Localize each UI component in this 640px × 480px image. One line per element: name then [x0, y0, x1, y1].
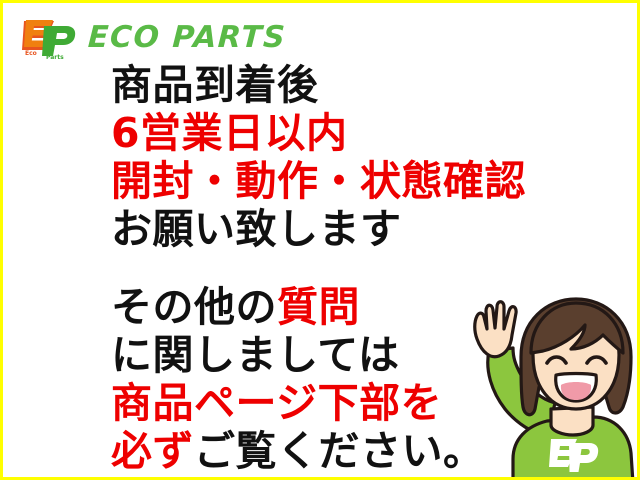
notice-line-5-black: その他の: [111, 283, 277, 331]
brand-wordmark: ECO PARTS: [87, 23, 287, 53]
notice-line-8-red: 必ず: [111, 427, 194, 475]
waving-woman-illustration: [443, 291, 640, 480]
notice-line-4: お願い致します: [111, 205, 581, 253]
message-spacer: [111, 253, 581, 283]
eco-parts-notice-banner: Eco Parts ECO PARTS 商品到着後 6営業日以内 開封・動作・状…: [0, 0, 640, 480]
eco-parts-logo-icon: Eco Parts: [20, 15, 80, 61]
notice-block-one: 商品到着後 6営業日以内 開封・動作・状態確認 お願い致します: [111, 61, 581, 253]
notice-line-1: 商品到着後: [111, 61, 581, 109]
notice-line-3: 開封・動作・状態確認: [111, 157, 581, 205]
brand-header: Eco Parts ECO PARTS: [20, 15, 286, 61]
notice-line-5-red: 質問: [277, 283, 360, 331]
notice-line-2: 6営業日以内: [111, 109, 581, 157]
notice-line-8-black: ご覧ください。: [194, 427, 485, 475]
svg-text:Parts: Parts: [46, 54, 64, 61]
svg-text:Eco: Eco: [25, 50, 37, 57]
